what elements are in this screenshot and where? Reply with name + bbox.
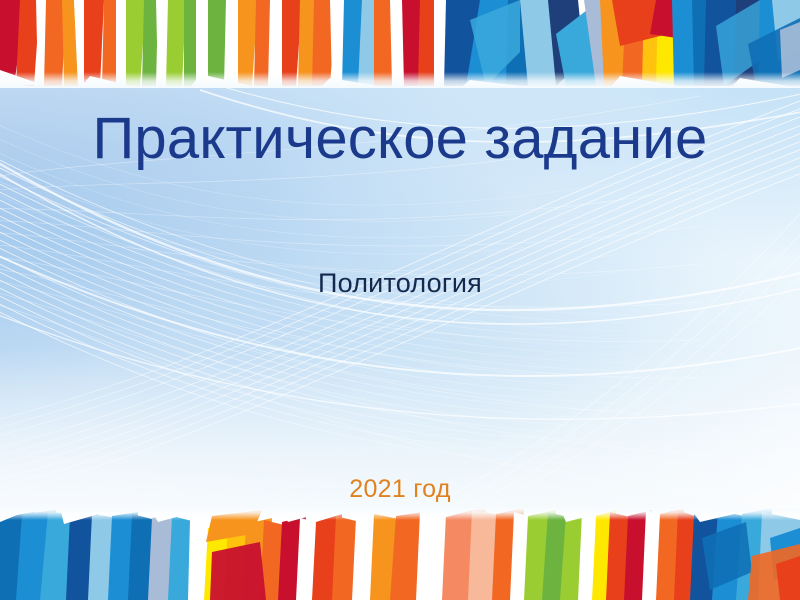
slide-subtitle: Политология — [0, 268, 800, 299]
presentation-slide: Практическое задание Политология 2021 го… — [0, 0, 800, 600]
top-band-fade — [0, 72, 800, 88]
top-decorative-band — [0, 0, 800, 88]
slide-year: 2021 год — [0, 475, 800, 504]
bottom-band-fade — [0, 508, 800, 520]
slide-title: Практическое задание — [0, 108, 800, 171]
bottom-band-shards — [0, 508, 800, 600]
bottom-decorative-band — [0, 508, 800, 600]
